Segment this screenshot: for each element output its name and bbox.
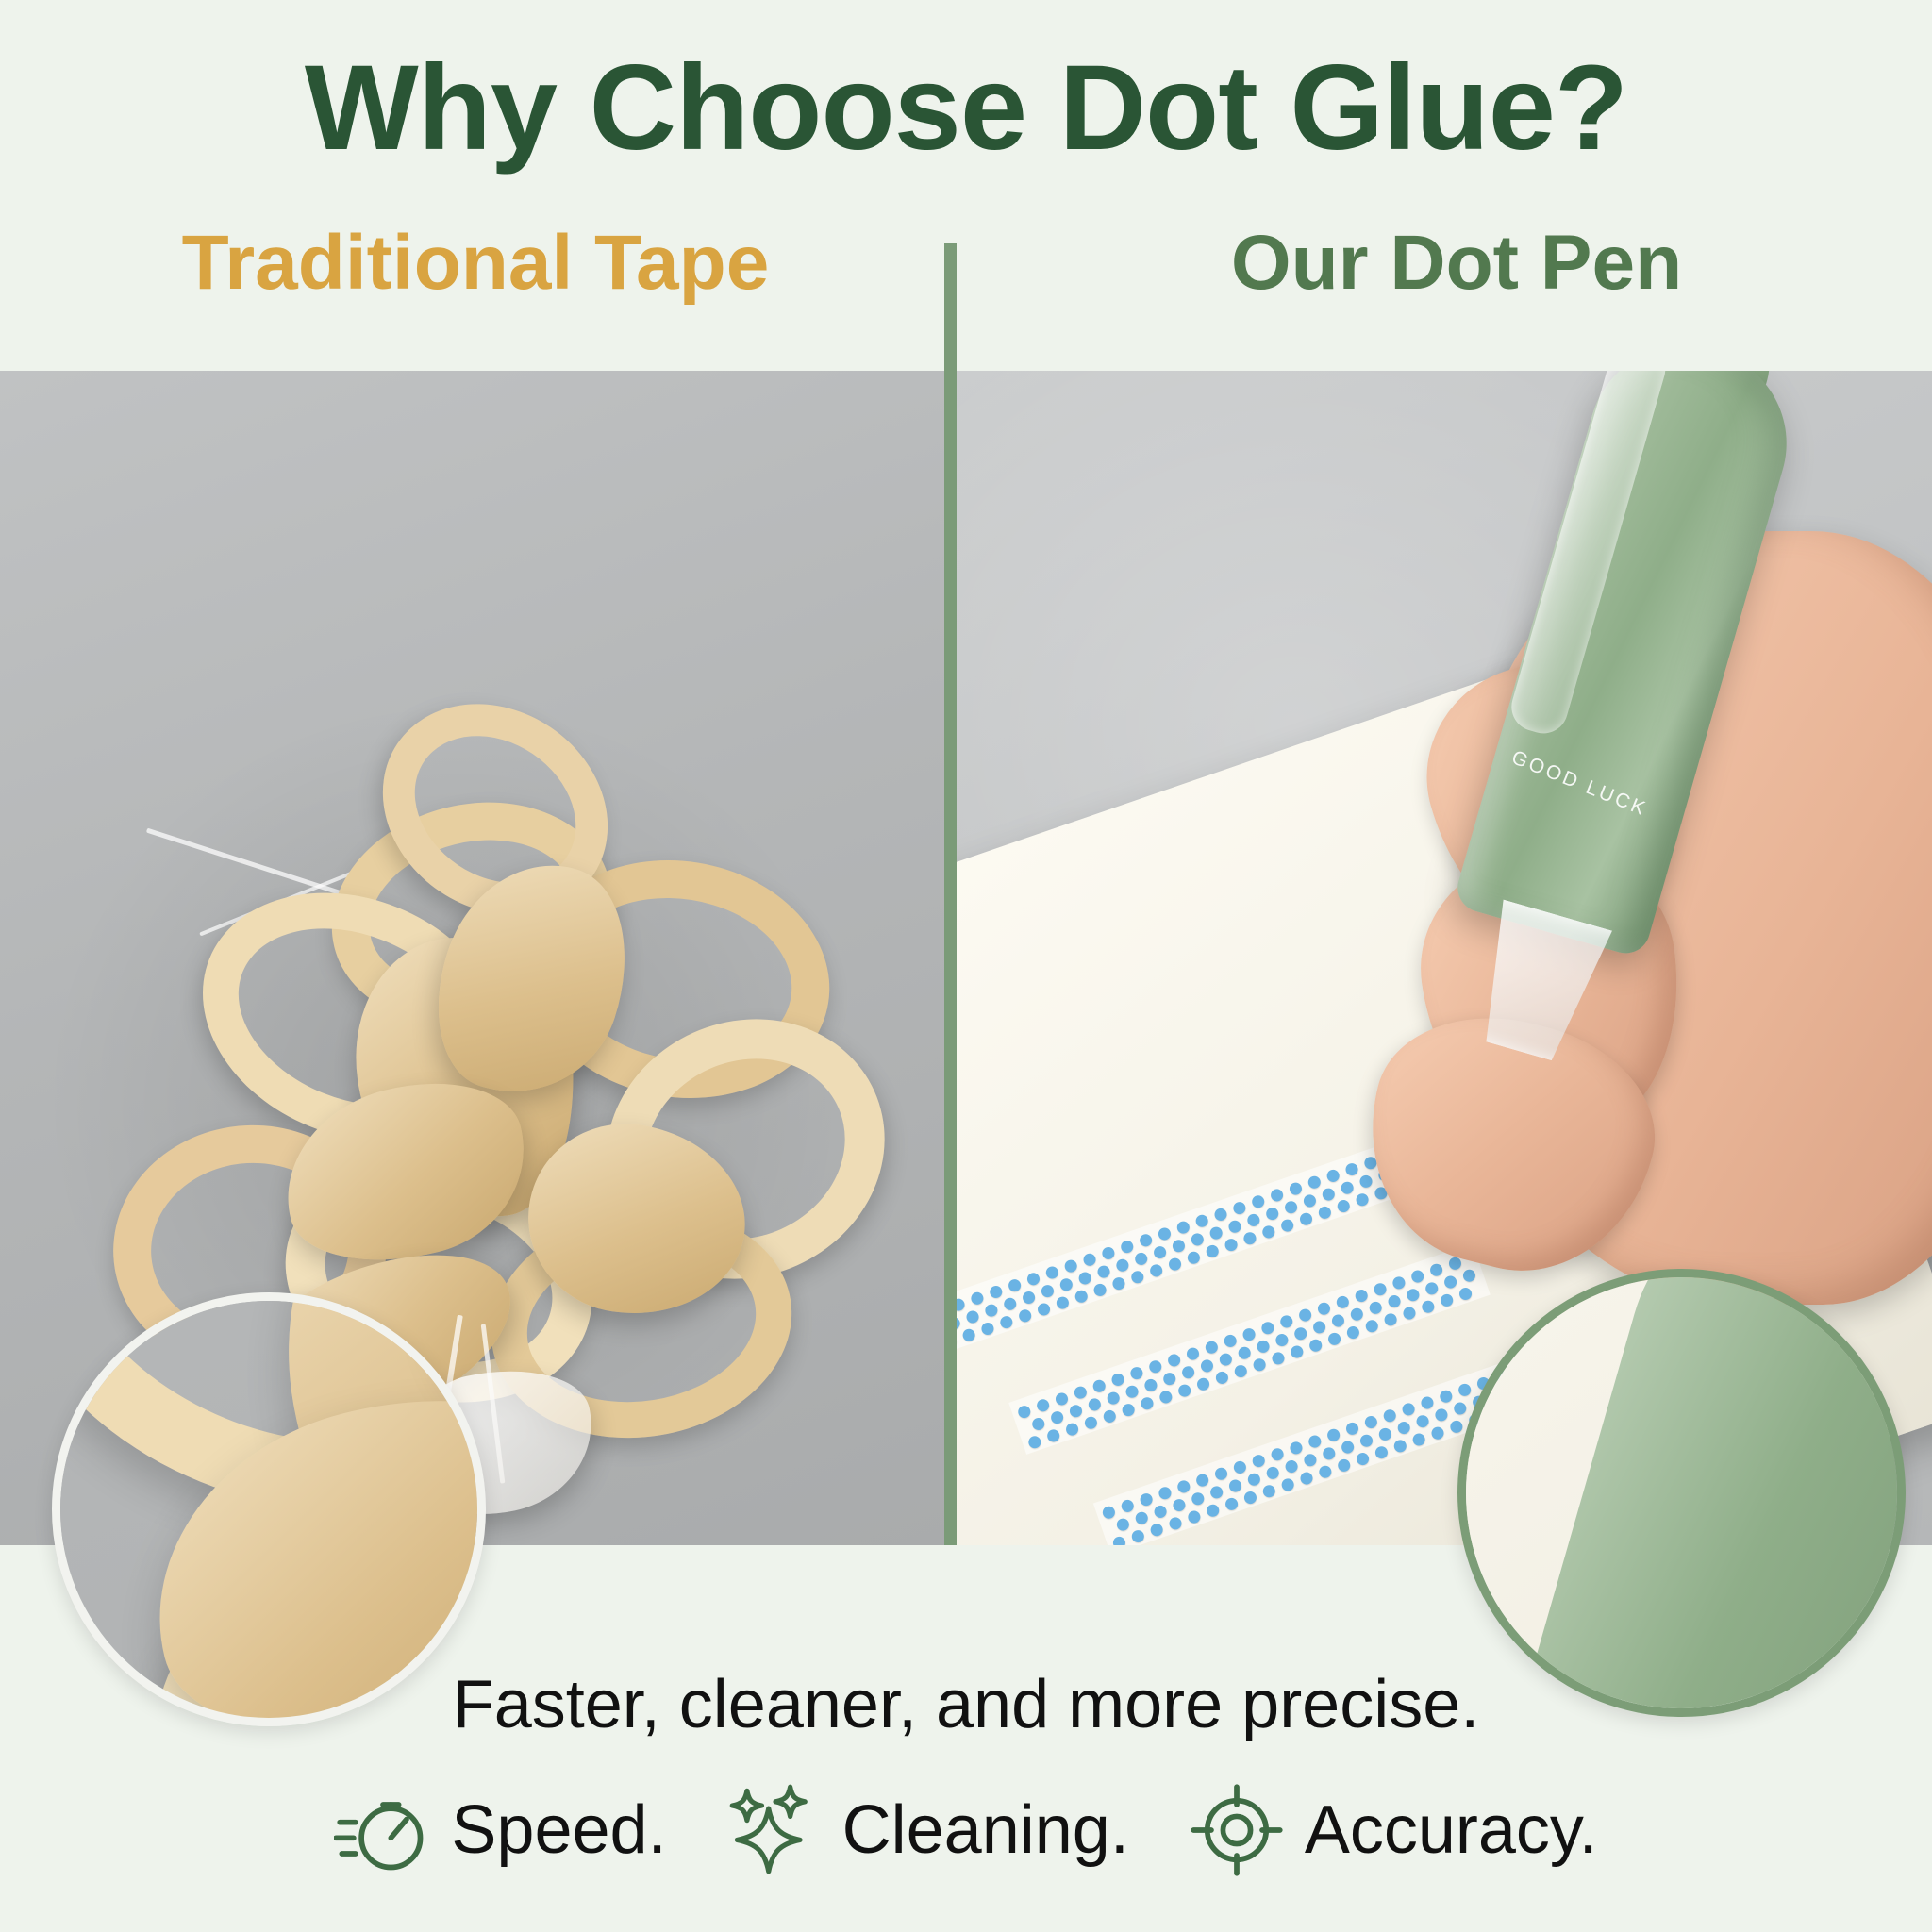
feature-cleaning: Cleaning.	[725, 1781, 1129, 1879]
hand: GOOD LUCK	[1311, 371, 1932, 1399]
inset-left-image	[52, 1292, 486, 1726]
feature-speed: Speed.	[334, 1781, 666, 1879]
crosshair-icon	[1188, 1781, 1286, 1879]
feature-list: Speed. Cleaning. Accuracy.	[0, 1781, 1932, 1879]
pen-brand-text: GOOD LUCK	[1508, 746, 1683, 834]
vertical-divider	[944, 243, 957, 1545]
inset-tape-closeup	[52, 1292, 486, 1726]
feature-label-cleaning: Cleaning.	[842, 1796, 1129, 1864]
stopwatch-icon	[334, 1781, 432, 1879]
feature-label-accuracy: Accuracy.	[1305, 1796, 1598, 1864]
feature-label-speed: Speed.	[451, 1796, 666, 1864]
sparkles-icon	[725, 1781, 824, 1879]
comparison-headings: Traditional Tape Our Dot Pen	[0, 219, 1932, 332]
inset-right-image	[1457, 1269, 1906, 1717]
page-title: Why Choose Dot Glue?	[0, 43, 1932, 174]
column-heading-traditional-tape: Traditional Tape	[0, 219, 951, 308]
inset-dots-closeup	[1457, 1269, 1906, 1717]
column-heading-our-dot-pen: Our Dot Pen	[981, 219, 1932, 308]
pen-clip	[1506, 371, 1672, 740]
header: Why Choose Dot Glue? Traditional Tape Ou…	[0, 0, 1932, 371]
feature-accuracy: Accuracy.	[1188, 1781, 1598, 1879]
